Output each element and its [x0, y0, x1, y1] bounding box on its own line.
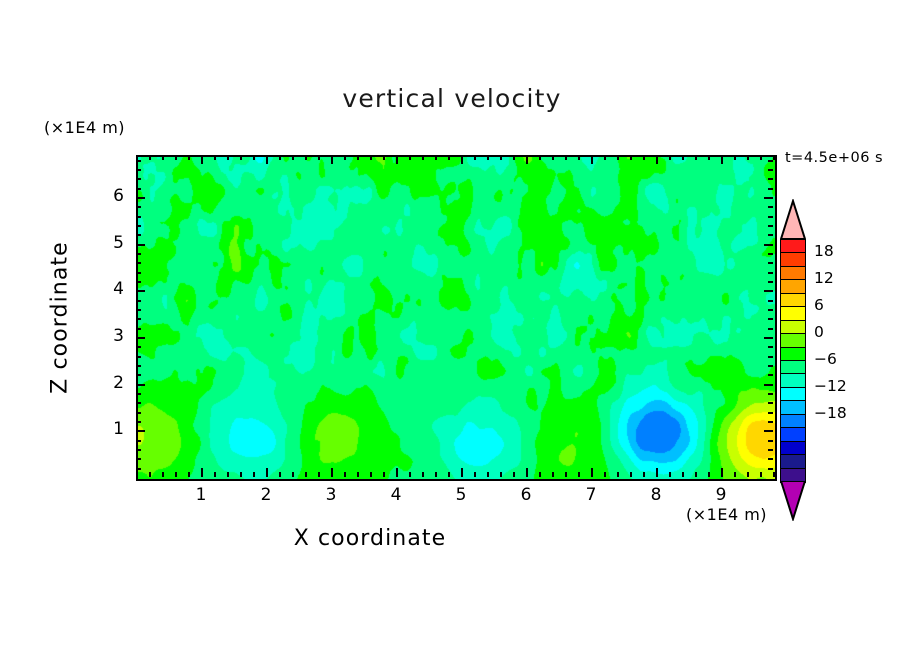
x-tick-top [292, 155, 294, 160]
x-tick-top [435, 155, 437, 160]
y-tick-right [768, 178, 773, 180]
figure-canvas: vertical velocity (×1E4 m) (×1E4 m) t=4.… [0, 0, 904, 654]
x-tick-bottom [162, 472, 164, 477]
y-tick-right [768, 374, 773, 376]
y-tick-left [136, 458, 141, 460]
x-tick-top [643, 155, 645, 160]
x-tick-top [773, 155, 775, 160]
x-tick-bottom [292, 472, 294, 477]
x-tick-bottom [461, 468, 463, 477]
x-tick-top [565, 155, 567, 160]
y-tick-right [768, 234, 773, 236]
y-tick-right [764, 384, 773, 386]
x-tick-top [747, 155, 749, 160]
y-axis-title: Z coordinate [48, 218, 73, 418]
x-tick-bottom [487, 472, 489, 477]
x-tick-bottom [188, 472, 190, 477]
colorbar-tick-label: −18 [814, 404, 847, 422]
y-tick-right [768, 393, 773, 395]
colorbar-tick-label: −6 [814, 350, 837, 368]
y-tick-left [136, 225, 141, 227]
x-tick-bottom [604, 472, 606, 477]
y-tick-right [768, 272, 773, 274]
y-tick-left [136, 309, 141, 311]
y-tick-left [136, 430, 145, 432]
x-tick-label: 5 [441, 485, 481, 505]
y-tick-left [136, 281, 141, 283]
x-tick-top [409, 155, 411, 160]
x-tick-bottom [409, 472, 411, 477]
x-tick-bottom [305, 472, 307, 477]
y-tick-right [768, 300, 773, 302]
y-tick-label: 5 [84, 233, 124, 253]
y-tick-left [136, 374, 141, 376]
y-tick-right [764, 430, 773, 432]
y-tick-label: 4 [84, 279, 124, 299]
x-tick-top [760, 155, 762, 160]
y-tick-left [136, 300, 141, 302]
y-tick-left [136, 440, 141, 442]
x-tick-top [396, 155, 398, 164]
x-tick-top [474, 155, 476, 160]
x-tick-label: 4 [376, 485, 416, 505]
x-tick-bottom [734, 472, 736, 477]
y-tick-right [768, 365, 773, 367]
x-tick-bottom [539, 472, 541, 477]
x-tick-bottom [422, 472, 424, 477]
x-tick-top [344, 155, 346, 160]
x-tick-bottom [344, 472, 346, 477]
x-tick-bottom [175, 472, 177, 477]
colorbar-cap-top [780, 199, 806, 243]
x-tick-bottom [383, 472, 385, 477]
x-tick-top [708, 155, 710, 160]
x-tick-bottom [227, 472, 229, 477]
y-tick-left [136, 290, 145, 292]
y-tick-label: 3 [84, 326, 124, 346]
x-tick-top [604, 155, 606, 160]
y-tick-left [136, 356, 141, 358]
y-tick-right [768, 225, 773, 227]
x-tick-top [305, 155, 307, 160]
contour-field [138, 157, 775, 479]
x-tick-top [240, 155, 242, 160]
y-tick-right [768, 318, 773, 320]
x-tick-label: 7 [571, 485, 611, 505]
x-tick-bottom [318, 472, 320, 477]
x-tick-bottom [526, 468, 528, 477]
y-tick-left [136, 328, 141, 330]
x-tick-top [383, 155, 385, 160]
y-tick-right [768, 169, 773, 171]
x-tick-bottom [578, 472, 580, 477]
y-tick-left [136, 197, 145, 199]
y-tick-right [768, 206, 773, 208]
x-tick-bottom [279, 472, 281, 477]
x-tick-bottom [500, 472, 502, 477]
x-tick-top [461, 155, 463, 164]
x-tick-top [253, 155, 255, 160]
x-tick-top [318, 155, 320, 160]
x-tick-bottom [773, 472, 775, 477]
y-tick-right [768, 262, 773, 264]
x-tick-top [227, 155, 229, 160]
y-tick-right [768, 449, 773, 451]
colorbar-tick-label: −12 [814, 377, 847, 395]
y-tick-right [764, 290, 773, 292]
x-tick-bottom [552, 472, 554, 477]
x-tick-top [357, 155, 359, 160]
x-tick-label: 6 [506, 485, 546, 505]
y-tick-right [768, 328, 773, 330]
y-tick-right [768, 309, 773, 311]
y-tick-left [136, 169, 141, 171]
x-tick-top [279, 155, 281, 160]
x-tick-top [188, 155, 190, 160]
colorbar-tick-label: 18 [814, 242, 834, 260]
x-tick-label: 2 [246, 485, 286, 505]
x-tick-top [370, 155, 372, 160]
y-tick-left [136, 468, 141, 470]
y-tick-label: 2 [84, 373, 124, 393]
x-tick-top [487, 155, 489, 160]
x-tick-top [331, 155, 333, 164]
y-tick-left [136, 178, 141, 180]
x-tick-top [656, 155, 658, 164]
x-tick-bottom [448, 472, 450, 477]
time-annotation: t=4.5e+06 s [785, 150, 883, 166]
x-tick-bottom [149, 472, 151, 477]
x-tick-bottom [201, 468, 203, 477]
x-tick-bottom [357, 472, 359, 477]
x-tick-bottom [253, 472, 255, 477]
colorbar-tick-label: 0 [814, 323, 824, 341]
x-tick-top [682, 155, 684, 160]
x-tick-label: 8 [636, 485, 676, 505]
y-tick-left [136, 216, 141, 218]
x-tick-top [539, 155, 541, 160]
x-tick-bottom [708, 472, 710, 477]
x-tick-top [422, 155, 424, 160]
y-tick-right [764, 197, 773, 199]
y-tick-left [136, 318, 141, 320]
x-tick-bottom [435, 472, 437, 477]
x-tick-bottom [565, 472, 567, 477]
x-tick-bottom [747, 472, 749, 477]
y-tick-left [136, 412, 141, 414]
x-tick-top [201, 155, 203, 164]
y-tick-label: 6 [84, 186, 124, 206]
y-tick-left [136, 449, 141, 451]
x-tick-top [214, 155, 216, 160]
x-tick-top [669, 155, 671, 160]
x-tick-top [526, 155, 528, 164]
x-tick-label: 3 [311, 485, 351, 505]
x-tick-bottom [630, 472, 632, 477]
x-tick-bottom [617, 472, 619, 477]
x-tick-top [617, 155, 619, 160]
x-tick-top [552, 155, 554, 160]
x-axis-unit-label: (×1E4 m) [686, 505, 767, 524]
x-tick-bottom [240, 472, 242, 477]
colorbar [780, 199, 806, 521]
y-tick-left [136, 188, 141, 190]
y-tick-left [136, 384, 145, 386]
x-tick-bottom [695, 472, 697, 477]
y-tick-left [136, 346, 141, 348]
x-tick-top [149, 155, 151, 160]
x-tick-top [721, 155, 723, 164]
x-tick-top [734, 155, 736, 160]
x-tick-bottom [721, 468, 723, 477]
y-tick-right [768, 402, 773, 404]
x-tick-top [578, 155, 580, 160]
y-tick-right [768, 160, 773, 162]
x-tick-bottom [682, 472, 684, 477]
y-tick-label: 1 [84, 419, 124, 439]
y-tick-right [768, 188, 773, 190]
x-tick-bottom [266, 468, 268, 477]
x-tick-bottom [396, 468, 398, 477]
y-tick-right [768, 346, 773, 348]
page-title: vertical velocity [0, 84, 904, 113]
y-axis-unit-label: (×1E4 m) [44, 118, 125, 137]
x-tick-bottom [474, 472, 476, 477]
y-tick-left [136, 234, 141, 236]
colorbar-cap-bottom [780, 481, 806, 525]
x-tick-bottom [370, 472, 372, 477]
x-tick-label: 1 [181, 485, 221, 505]
x-axis-title: X coordinate [0, 526, 740, 551]
y-tick-left [136, 244, 145, 246]
y-tick-right [768, 281, 773, 283]
y-tick-right [768, 440, 773, 442]
y-tick-left [136, 272, 141, 274]
colorbar-tick-label: 12 [814, 269, 834, 287]
x-tick-top [591, 155, 593, 164]
y-tick-right [768, 412, 773, 414]
x-tick-bottom [591, 468, 593, 477]
y-tick-left [136, 206, 141, 208]
contour-plot-area [136, 155, 777, 481]
x-tick-top [513, 155, 515, 160]
x-tick-bottom [513, 472, 515, 477]
y-tick-left [136, 365, 141, 367]
x-tick-top [630, 155, 632, 160]
y-tick-right [768, 356, 773, 358]
y-tick-right [768, 468, 773, 470]
x-tick-top [162, 155, 164, 160]
x-tick-top [175, 155, 177, 160]
x-tick-top [695, 155, 697, 160]
y-tick-right [768, 216, 773, 218]
y-tick-right [768, 253, 773, 255]
x-tick-label: 9 [701, 485, 741, 505]
y-tick-left [136, 402, 141, 404]
colorbar-tick-label: 6 [814, 296, 824, 314]
y-tick-left [136, 262, 141, 264]
y-tick-right [768, 421, 773, 423]
y-tick-right [768, 458, 773, 460]
x-tick-bottom [331, 468, 333, 477]
y-tick-left [136, 421, 141, 423]
y-tick-right [764, 244, 773, 246]
x-tick-bottom [643, 472, 645, 477]
x-tick-top [500, 155, 502, 160]
y-tick-left [136, 160, 141, 162]
y-tick-right [764, 337, 773, 339]
x-tick-bottom [669, 472, 671, 477]
x-tick-top [266, 155, 268, 164]
y-tick-left [136, 393, 141, 395]
x-tick-bottom [760, 472, 762, 477]
y-tick-left [136, 253, 141, 255]
x-tick-bottom [214, 472, 216, 477]
x-tick-top [448, 155, 450, 160]
y-tick-left [136, 337, 145, 339]
x-tick-bottom [656, 468, 658, 477]
